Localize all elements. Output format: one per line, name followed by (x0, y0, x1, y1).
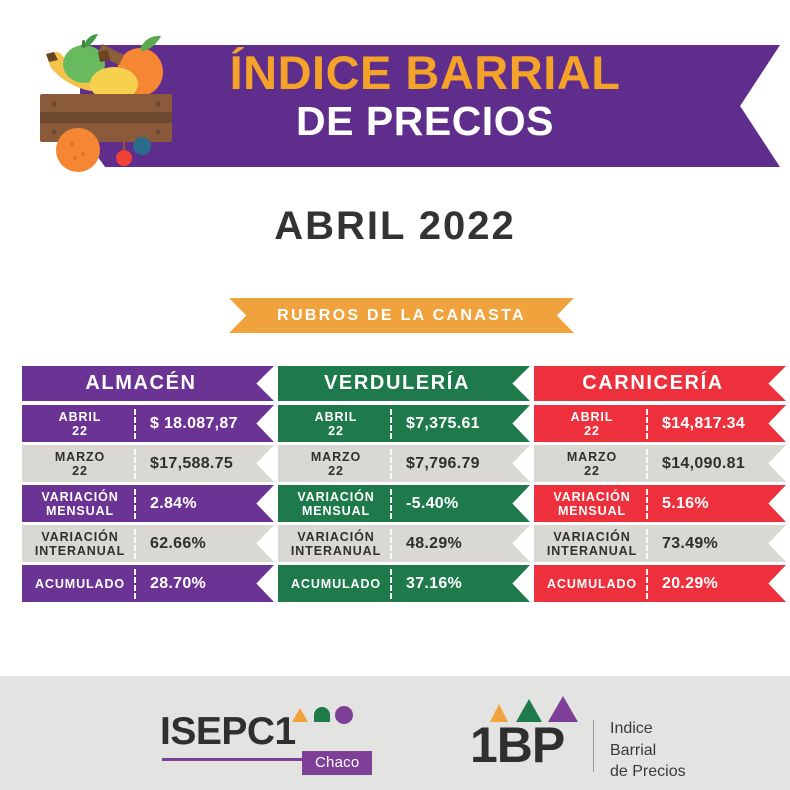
ibp-subtitle-line1: Indice (610, 718, 686, 740)
row-value: $14,817.34 (648, 415, 786, 433)
row-divider (134, 489, 136, 519)
table-row: ABRIL22$14,817.34 (534, 405, 786, 442)
row-value: 28.70% (136, 575, 274, 593)
table-row: ACUMULADO37.16% (278, 565, 530, 602)
rubro-column-header: CARNICERÍA (534, 366, 786, 401)
row-label: MARZO22 (534, 450, 646, 478)
row-divider (134, 449, 136, 479)
row-label: ACUMULADO (534, 577, 646, 591)
rubro-column-title: VERDULERÍA (324, 372, 470, 395)
month-title: ABRIL 2022 (0, 204, 790, 249)
row-divider (390, 409, 392, 439)
row-value: -5.40% (392, 495, 530, 513)
table-row: VARIACIÓNMENSUAL2.84% (22, 485, 274, 522)
row-divider (390, 569, 392, 599)
row-value: 48.29% (392, 535, 530, 553)
row-divider (646, 489, 648, 519)
isepci-wordmark: ISEPC1 (160, 710, 296, 754)
row-label: VARIACIÓNINTERANUAL (278, 530, 390, 558)
ibp-subtitle: Indice Barrial de Precios (610, 718, 686, 783)
row-value: $7,375.61 (392, 415, 530, 433)
row-label: VARIACIÓNMENSUAL (278, 490, 390, 518)
row-divider (134, 529, 136, 559)
row-label: ABRIL22 (22, 410, 134, 438)
row-value: 62.66% (136, 535, 274, 553)
section-ribbon-label: RUBROS DE LA CANASTA (277, 307, 526, 325)
ibp-wordmark: 1BP (470, 716, 564, 774)
row-label: ABRIL22 (534, 410, 646, 438)
rubros-table: ALMACÉNABRIL22$ 18.087,87MARZO22$17,588.… (0, 366, 790, 606)
row-divider (134, 409, 136, 439)
row-value: $17,588.75 (136, 455, 274, 473)
table-row: ACUMULADO20.29% (534, 565, 786, 602)
table-row: VARIACIÓNINTERANUAL73.49% (534, 525, 786, 562)
page-title-line1: ÍNDICE BARRIAL (180, 48, 670, 97)
row-divider (646, 529, 648, 559)
table-row: MARZO22$17,588.75 (22, 445, 274, 482)
ibp-separator (593, 720, 594, 772)
row-divider (390, 489, 392, 519)
table-row: MARZO22$14,090.81 (534, 445, 786, 482)
table-row: ABRIL22$ 18.087,87 (22, 405, 274, 442)
page-title: ÍNDICE BARRIAL DE PRECIOS (180, 48, 670, 144)
table-row: VARIACIÓNINTERANUAL48.29% (278, 525, 530, 562)
row-label: ABRIL22 (278, 410, 390, 438)
table-row: VARIACIÓNMENSUAL-5.40% (278, 485, 530, 522)
isepci-rule (162, 758, 302, 761)
row-value: 37.16% (392, 575, 530, 593)
row-divider (646, 569, 648, 599)
isepci-logo: ISEPC1 Chaco (160, 696, 370, 772)
isepci-chaco-label: Chaco (302, 751, 372, 775)
row-value: 73.49% (648, 535, 786, 553)
row-label: VARIACIÓNINTERANUAL (22, 530, 134, 558)
row-label: ACUMULADO (22, 577, 134, 591)
row-label: ACUMULADO (278, 577, 390, 591)
row-divider (134, 569, 136, 599)
table-row: VARIACIÓNMENSUAL5.16% (534, 485, 786, 522)
ibp-subtitle-line2: Barrial (610, 740, 686, 762)
rubro-column-title: ALMACÉN (85, 372, 196, 395)
fruit-cart-icon (28, 22, 198, 182)
row-label: VARIACIÓNINTERANUAL (534, 530, 646, 558)
isepci-dots-icon (288, 696, 360, 735)
row-divider (390, 529, 392, 559)
section-ribbon: RUBROS DE LA CANASTA (229, 298, 574, 333)
table-row: VARIACIÓNINTERANUAL62.66% (22, 525, 274, 562)
row-divider (646, 409, 648, 439)
ibp-subtitle-line3: de Precios (610, 761, 686, 783)
rubro-column-title: CARNICERÍA (582, 372, 724, 395)
row-value: $7,796.79 (392, 455, 530, 473)
table-row: ACUMULADO28.70% (22, 565, 274, 602)
table-row: MARZO22$7,796.79 (278, 445, 530, 482)
table-row: ABRIL22$7,375.61 (278, 405, 530, 442)
rubro-column-almacén: ALMACÉNABRIL22$ 18.087,87MARZO22$17,588.… (22, 366, 274, 605)
row-label: VARIACIÓNMENSUAL (534, 490, 646, 518)
row-value: 5.16% (648, 495, 786, 513)
row-label: MARZO22 (278, 450, 390, 478)
row-value: 2.84% (136, 495, 274, 513)
row-divider (390, 449, 392, 479)
rubro-column-carnicería: CARNICERÍAABRIL22$14,817.34MARZO22$14,09… (534, 366, 786, 605)
row-divider (646, 449, 648, 479)
row-value: $ 18.087,87 (136, 415, 274, 433)
rubro-column-header: ALMACÉN (22, 366, 274, 401)
row-label: MARZO22 (22, 450, 134, 478)
ibp-logo: 1BP Indice Barrial de Precios (470, 694, 720, 774)
rubro-column-verdulería: VERDULERÍAABRIL22$7,375.61MARZO22$7,796.… (278, 366, 530, 605)
header-banner: ÍNDICE BARRIAL DE PRECIOS (0, 0, 790, 186)
row-value: 20.29% (648, 575, 786, 593)
page-title-line2: DE PRECIOS (180, 99, 670, 144)
footer-bar: ISEPC1 Chaco 1BP Indice Barrial de Preci… (0, 676, 790, 790)
row-value: $14,090.81 (648, 455, 786, 473)
row-label: VARIACIÓNMENSUAL (22, 490, 134, 518)
rubro-column-header: VERDULERÍA (278, 366, 530, 401)
